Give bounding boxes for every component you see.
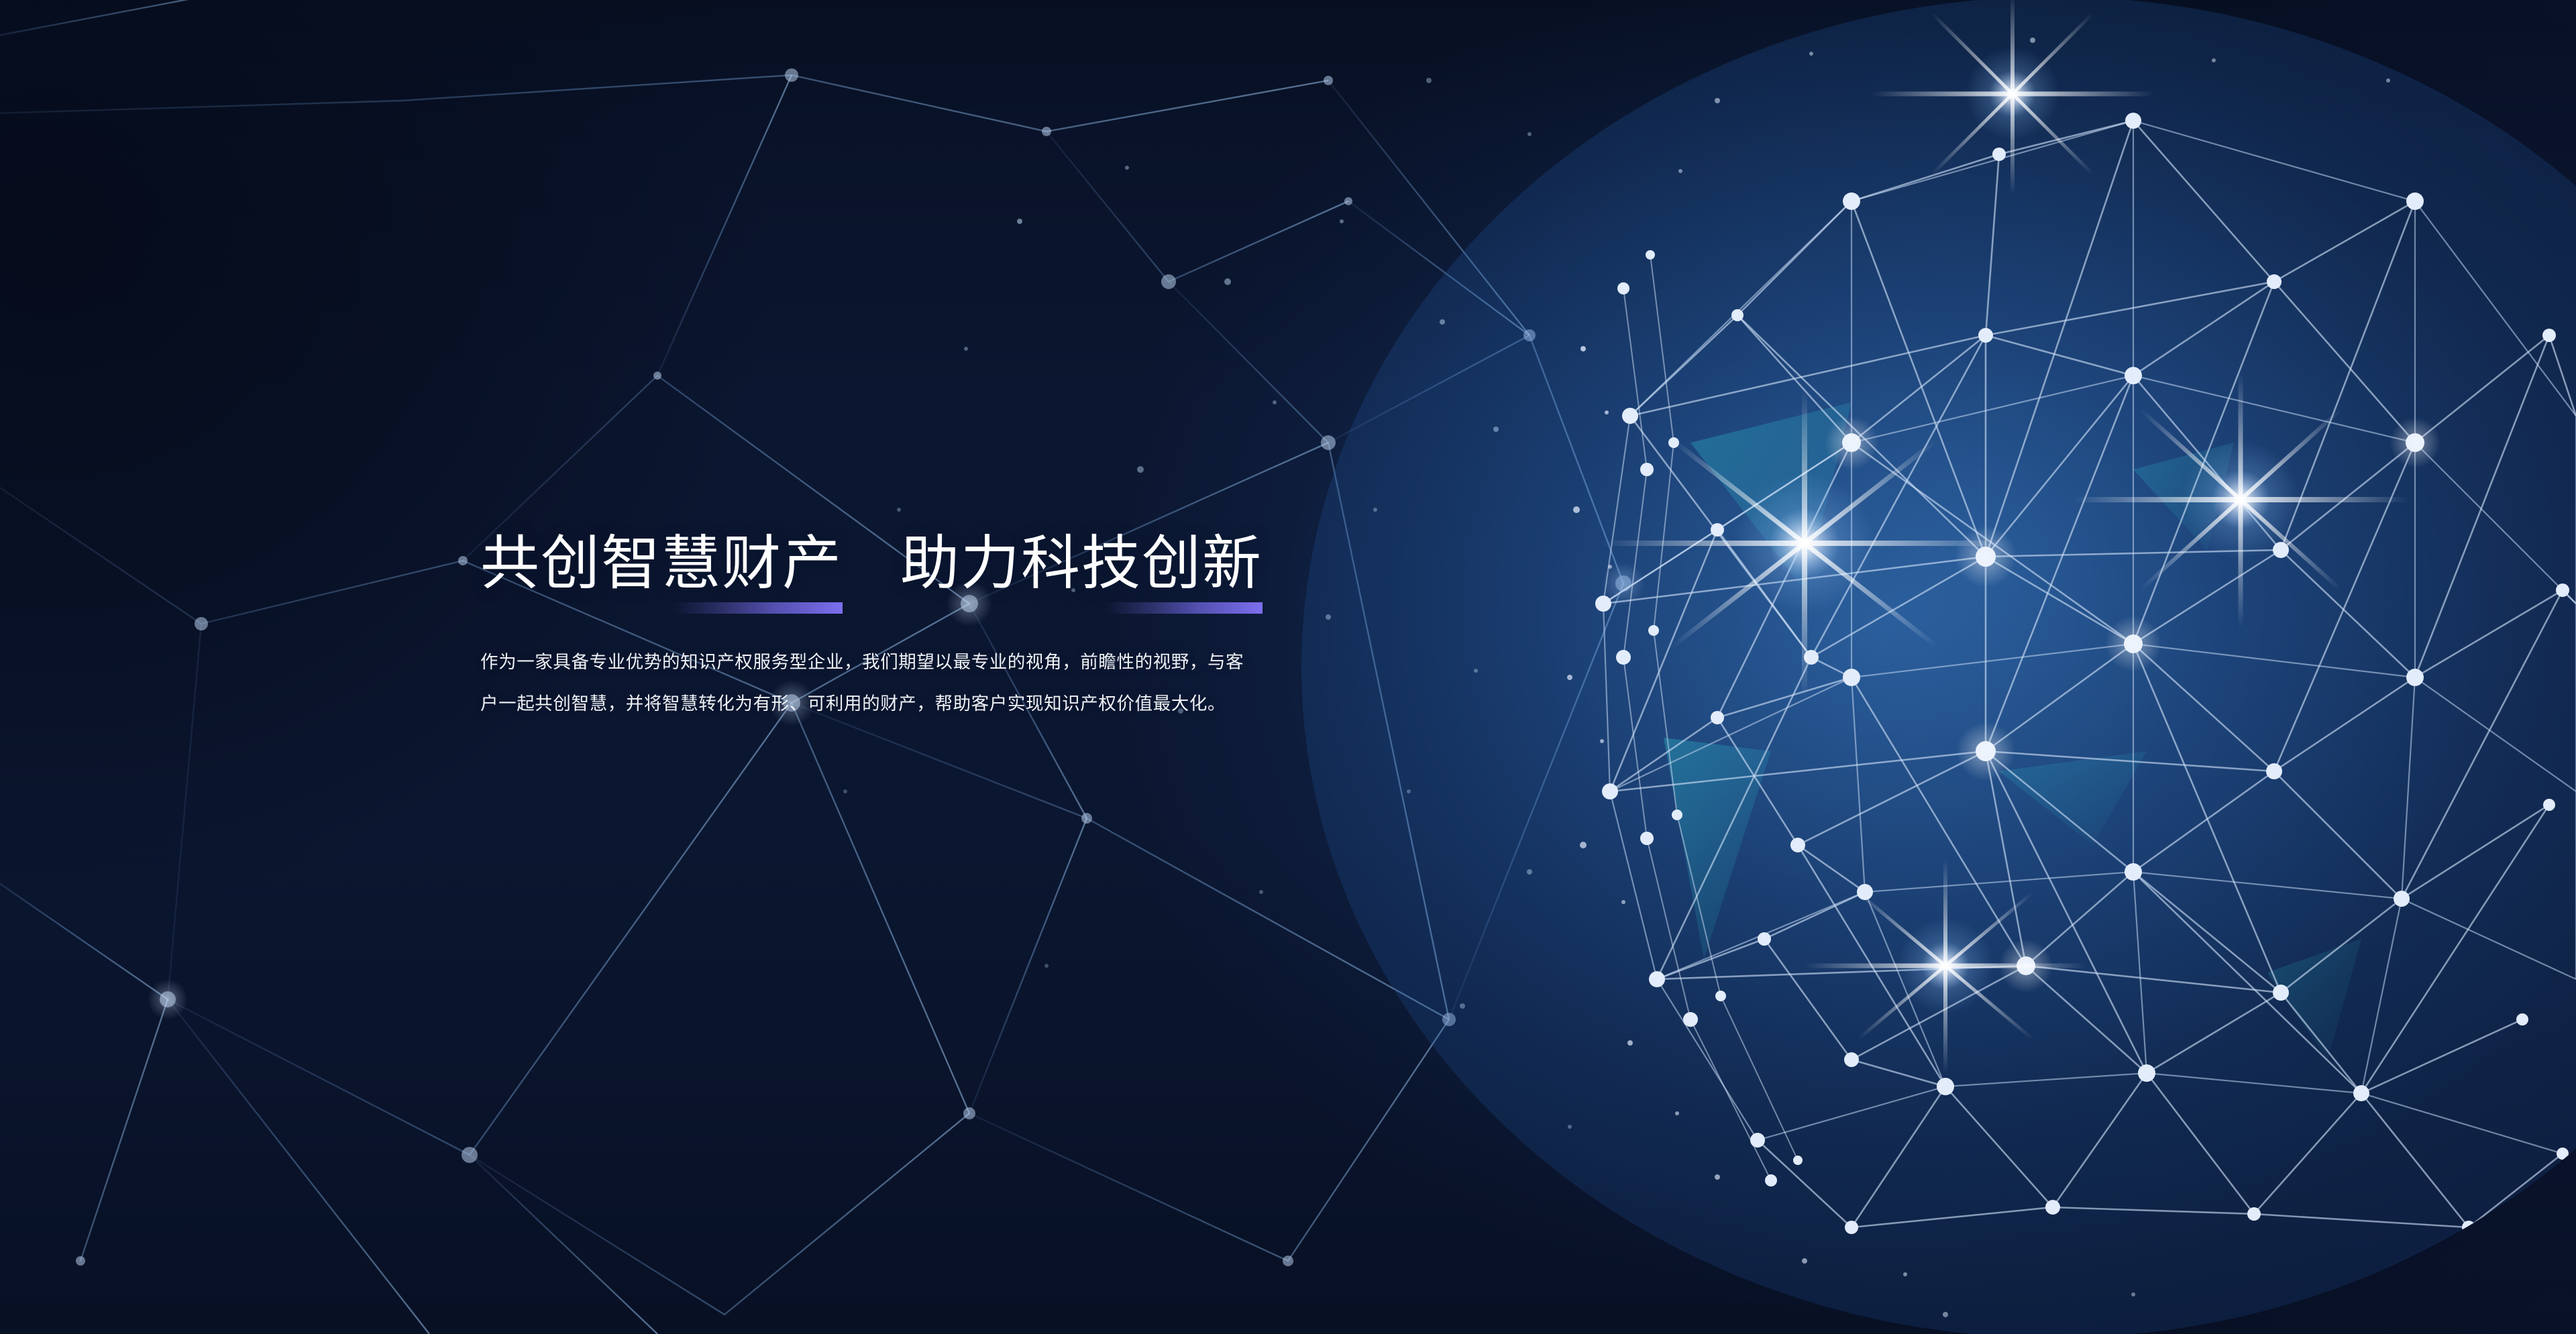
headline-text-1: 共创智慧财产 bbox=[480, 534, 843, 593]
page-title: 共创智慧财产 助力科技创新 bbox=[480, 534, 1453, 593]
headline-segment-2: 助力科技创新 bbox=[900, 534, 1263, 593]
headline-segment-1: 共创智慧财产 bbox=[480, 534, 843, 593]
headline-accent-bar-2 bbox=[1107, 602, 1263, 614]
headline-text-2: 助力科技创新 bbox=[900, 534, 1263, 593]
hero-copy: 共创智慧财产 助力科技创新 作为一家具备专业优势的知识产权服务型企业，我们期望以… bbox=[480, 534, 1453, 742]
hero-description: 作为一家具备专业优势的知识产权服务型企业，我们期望以最专业的视角，前瞻性的视野，… bbox=[480, 641, 1252, 724]
hero-banner: 共创智慧财产 助力科技创新 作为一家具备专业优势的知识产权服务型企业，我们期望以… bbox=[0, 0, 2576, 1334]
headline-accent-bar-1 bbox=[674, 602, 843, 614]
